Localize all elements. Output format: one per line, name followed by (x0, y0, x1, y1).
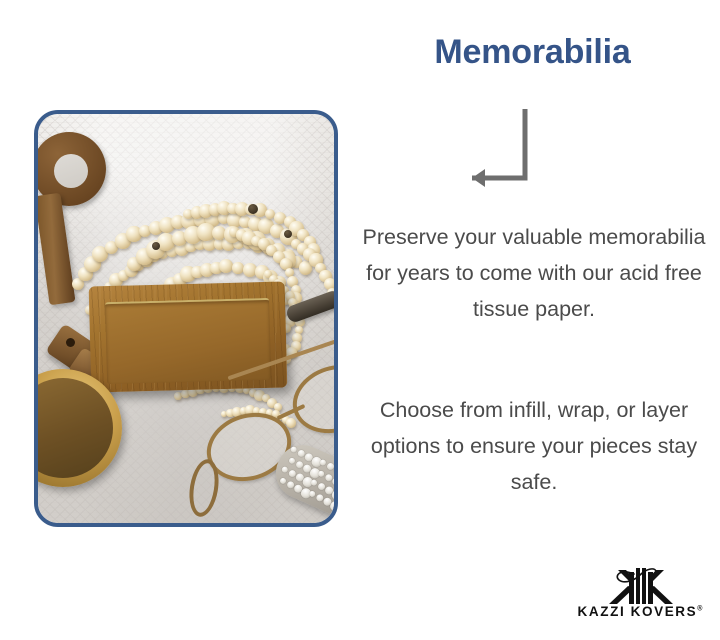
brand-logo: KAZZI KOVERS® (570, 562, 710, 626)
wooden-box (89, 281, 288, 392)
page-title: Memorabilia (360, 33, 705, 72)
return-arrow-icon (445, 105, 545, 195)
trademark-symbol: ® (697, 606, 702, 613)
paragraph-options: Choose from infill, wrap, or layer optio… (360, 392, 708, 500)
memorabilia-photo (38, 114, 334, 523)
paragraph-preserve: Preserve your valuable memorabilia for y… (360, 219, 708, 327)
brand-name: KAZZI KOVERS® (570, 604, 710, 619)
memorabilia-photo-card (34, 110, 338, 527)
kazzi-kovers-monogram-icon (604, 562, 676, 604)
brand-name-text: KAZZI KOVERS (578, 604, 698, 619)
gold-compact-inner (38, 378, 113, 478)
